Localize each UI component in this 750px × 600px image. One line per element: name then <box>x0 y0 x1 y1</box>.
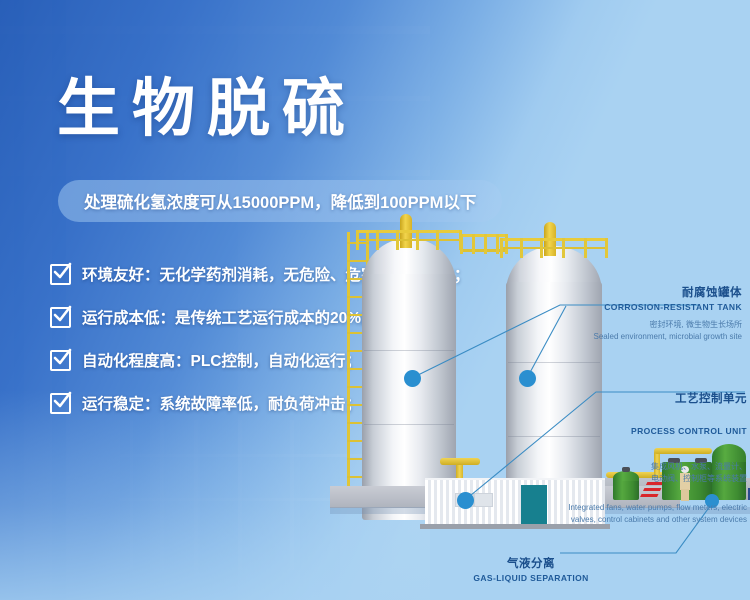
annotation-body-en: Sealed environment, microbial growth sit… <box>442 331 742 343</box>
annotation-process-control-unit: 工艺控制单元 PROCESS CONTROL UNIT 集成风机、水泵、流量计、… <box>457 372 747 543</box>
checkbox-checked-icon <box>50 350 71 371</box>
annotation-body-cn: 密封环境, 微生物生长场所 <box>442 319 742 331</box>
annotation-heading-cn: 工艺控制单元 <box>457 390 747 406</box>
annotation-corrosion-resistant-tank: 耐腐蚀罐体 CORROSION-RESISTANT TANK 密封环境, 微生物… <box>442 284 742 342</box>
annotation-body-en: Integrated fans, water pumps, flow meter… <box>457 502 747 525</box>
annotation-heading-cn: 耐腐蚀罐体 <box>442 284 742 300</box>
tank-1-handrail <box>356 230 462 250</box>
tank-2-handrail <box>500 238 608 258</box>
checkbox-checked-icon <box>50 264 71 285</box>
annotation-heading-cn: 气液分离 <box>466 555 596 571</box>
checkbox-checked-icon <box>50 307 71 328</box>
page-title: 生物脱硫 <box>57 78 357 141</box>
checkbox-checked-icon <box>50 393 71 414</box>
annotation-body-cn: 集成风机、水泵、流量计、 电动阀、控制柜等系统装置 <box>457 461 747 484</box>
annotation-gas-liquid-separation: 气液分离 GAS-LIQUID SEPARATION <box>466 555 596 583</box>
annotation-heading-en: PROCESS CONTROL UNIT <box>457 426 747 436</box>
annotation-heading-en: GAS-LIQUID SEPARATION <box>466 573 596 583</box>
annotation-heading-en: CORROSION-RESISTANT TANK <box>442 302 742 312</box>
poster-canvas: 生物脱硫 处理硫化氢浓度可从15000PPM，降低到100PPM以下 环境友好：… <box>0 0 750 600</box>
hotspot-marker-tank-1[interactable] <box>404 370 421 387</box>
